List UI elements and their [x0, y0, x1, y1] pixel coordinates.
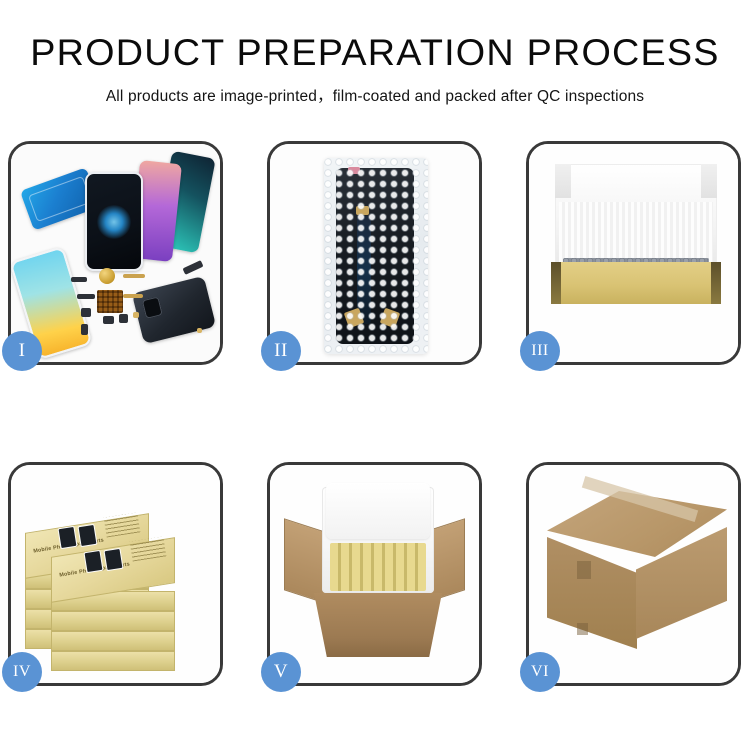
step-2-image — [270, 144, 479, 362]
box-stack-graphic: Mobile Phone Spare Parts Mobile Phone Sp… — [11, 465, 220, 683]
stacked-box — [51, 611, 175, 631]
box-print-screenshot-4 — [103, 548, 123, 571]
small-part-graphic-5 — [119, 314, 128, 323]
flex-cable-graphic-2 — [123, 294, 143, 298]
step-3-image — [529, 144, 738, 362]
page-subtitle: All products are image-printed，film-coat… — [0, 84, 750, 106]
carton-body-graphic — [314, 593, 442, 657]
page-title: PRODUCT PREPARATION PROCESS — [0, 34, 750, 73]
step-6-image — [529, 465, 738, 683]
scene-bubble-wrap — [270, 144, 479, 362]
step-badge-1: I — [2, 331, 42, 371]
flex-cable-graphic-1 — [123, 274, 145, 278]
step-badge-3: III — [520, 331, 560, 371]
stacked-box — [51, 631, 175, 651]
front-glass-graphic — [85, 172, 143, 271]
small-part-graphic-3 — [81, 308, 91, 317]
bubble-bag-graphic — [324, 158, 428, 354]
box-print-screenshot-2 — [77, 524, 97, 547]
box-print-screenshot-1 — [57, 526, 77, 549]
kraft-tray-graphic — [551, 262, 721, 304]
scene-inner-box — [529, 144, 738, 362]
scene-foam-carton — [270, 465, 479, 683]
carton-seam-1 — [577, 561, 591, 579]
carton-front-face — [547, 537, 637, 649]
bubble-texture — [324, 158, 428, 354]
kraft-boxes-inside-graphic — [330, 543, 426, 591]
box-print-screenshot-3 — [83, 550, 103, 573]
scene-sealed-carton — [529, 465, 738, 683]
process-row-1: I II — [0, 141, 750, 365]
step-panel-2[interactable]: II — [267, 141, 482, 365]
step-panel-3[interactable]: III — [526, 141, 741, 365]
step-badge-2: II — [261, 331, 301, 371]
small-part-graphic-6 — [81, 324, 88, 335]
step-panel-5[interactable]: V — [267, 462, 482, 686]
scene-products — [11, 144, 220, 362]
foam-box-lid-graphic — [326, 483, 430, 539]
process-row-2: Mobile Phone Spare Parts Mobile Phone Sp… — [0, 462, 750, 686]
phone-back-housing-graphic — [132, 276, 216, 344]
step-panel-6[interactable]: VI — [526, 462, 741, 686]
page-header: PRODUCT PREPARATION PROCESS All products… — [0, 0, 750, 106]
scene-stacked-boxes: Mobile Phone Spare Parts Mobile Phone Sp… — [11, 465, 220, 683]
process-steps-grid: I II — [0, 141, 750, 686]
tool-graphic — [182, 260, 203, 275]
step-1-image — [11, 144, 220, 362]
small-part-graphic-2 — [77, 294, 95, 299]
carton-seam-2 — [577, 623, 588, 635]
small-part-graphic-1 — [71, 277, 87, 282]
step-badge-6: VI — [520, 652, 560, 692]
ic-chip-graphic — [97, 290, 123, 313]
step-panel-1[interactable]: I — [8, 141, 223, 365]
stacked-box — [51, 651, 175, 671]
screw-graphic-1 — [133, 312, 139, 318]
step-badge-5: V — [261, 652, 301, 692]
step-4-image: Mobile Phone Spare Parts Mobile Phone Sp… — [11, 465, 220, 683]
step-5-image — [270, 465, 479, 683]
foam-backing-graphic — [559, 202, 713, 264]
step-badge-4: IV — [2, 652, 42, 692]
small-part-graphic-4 — [103, 316, 114, 324]
screw-graphic-2 — [197, 328, 202, 333]
speaker-part-graphic — [99, 268, 115, 284]
step-panel-4[interactable]: Mobile Phone Spare Parts Mobile Phone Sp… — [8, 462, 223, 686]
